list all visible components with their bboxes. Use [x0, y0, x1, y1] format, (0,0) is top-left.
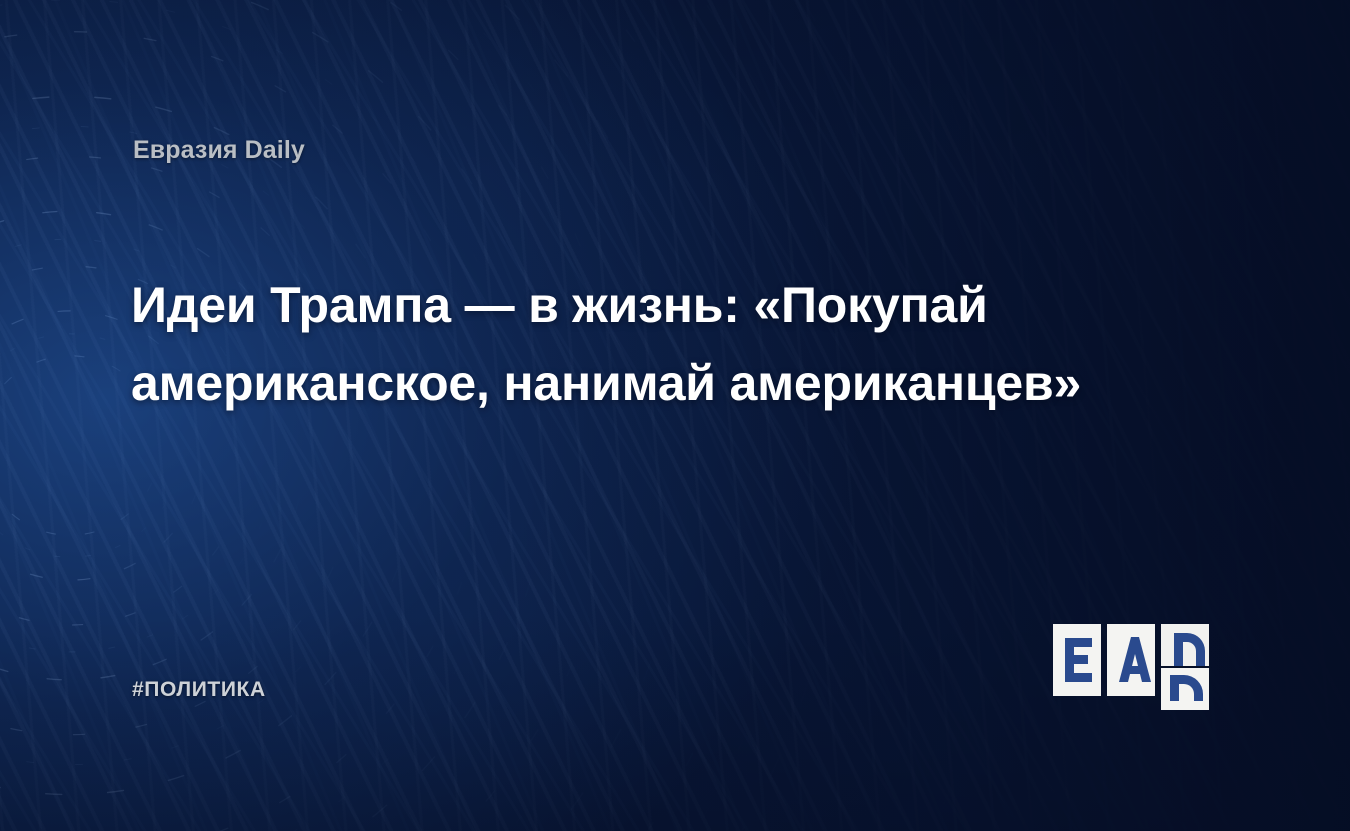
logo-letter-e — [1065, 638, 1092, 682]
ead-logo — [1050, 621, 1230, 713]
headline-line-2: американское, нанимай американцев» — [131, 344, 1206, 422]
brand-name: Евразия Daily — [133, 136, 305, 165]
social-share-card: Евразия Daily Идеи Трампа — в жизнь: «По… — [0, 0, 1350, 831]
category-hashtag: #ПОЛИТИКА — [132, 678, 266, 702]
card-content: Евразия Daily Идеи Трампа — в жизнь: «По… — [0, 0, 1350, 831]
headline: Идеи Трампа — в жизнь: «Покупай американ… — [131, 266, 1206, 422]
headline-line-1: Идеи Трампа — в жизнь: «Покупай — [131, 266, 1206, 344]
